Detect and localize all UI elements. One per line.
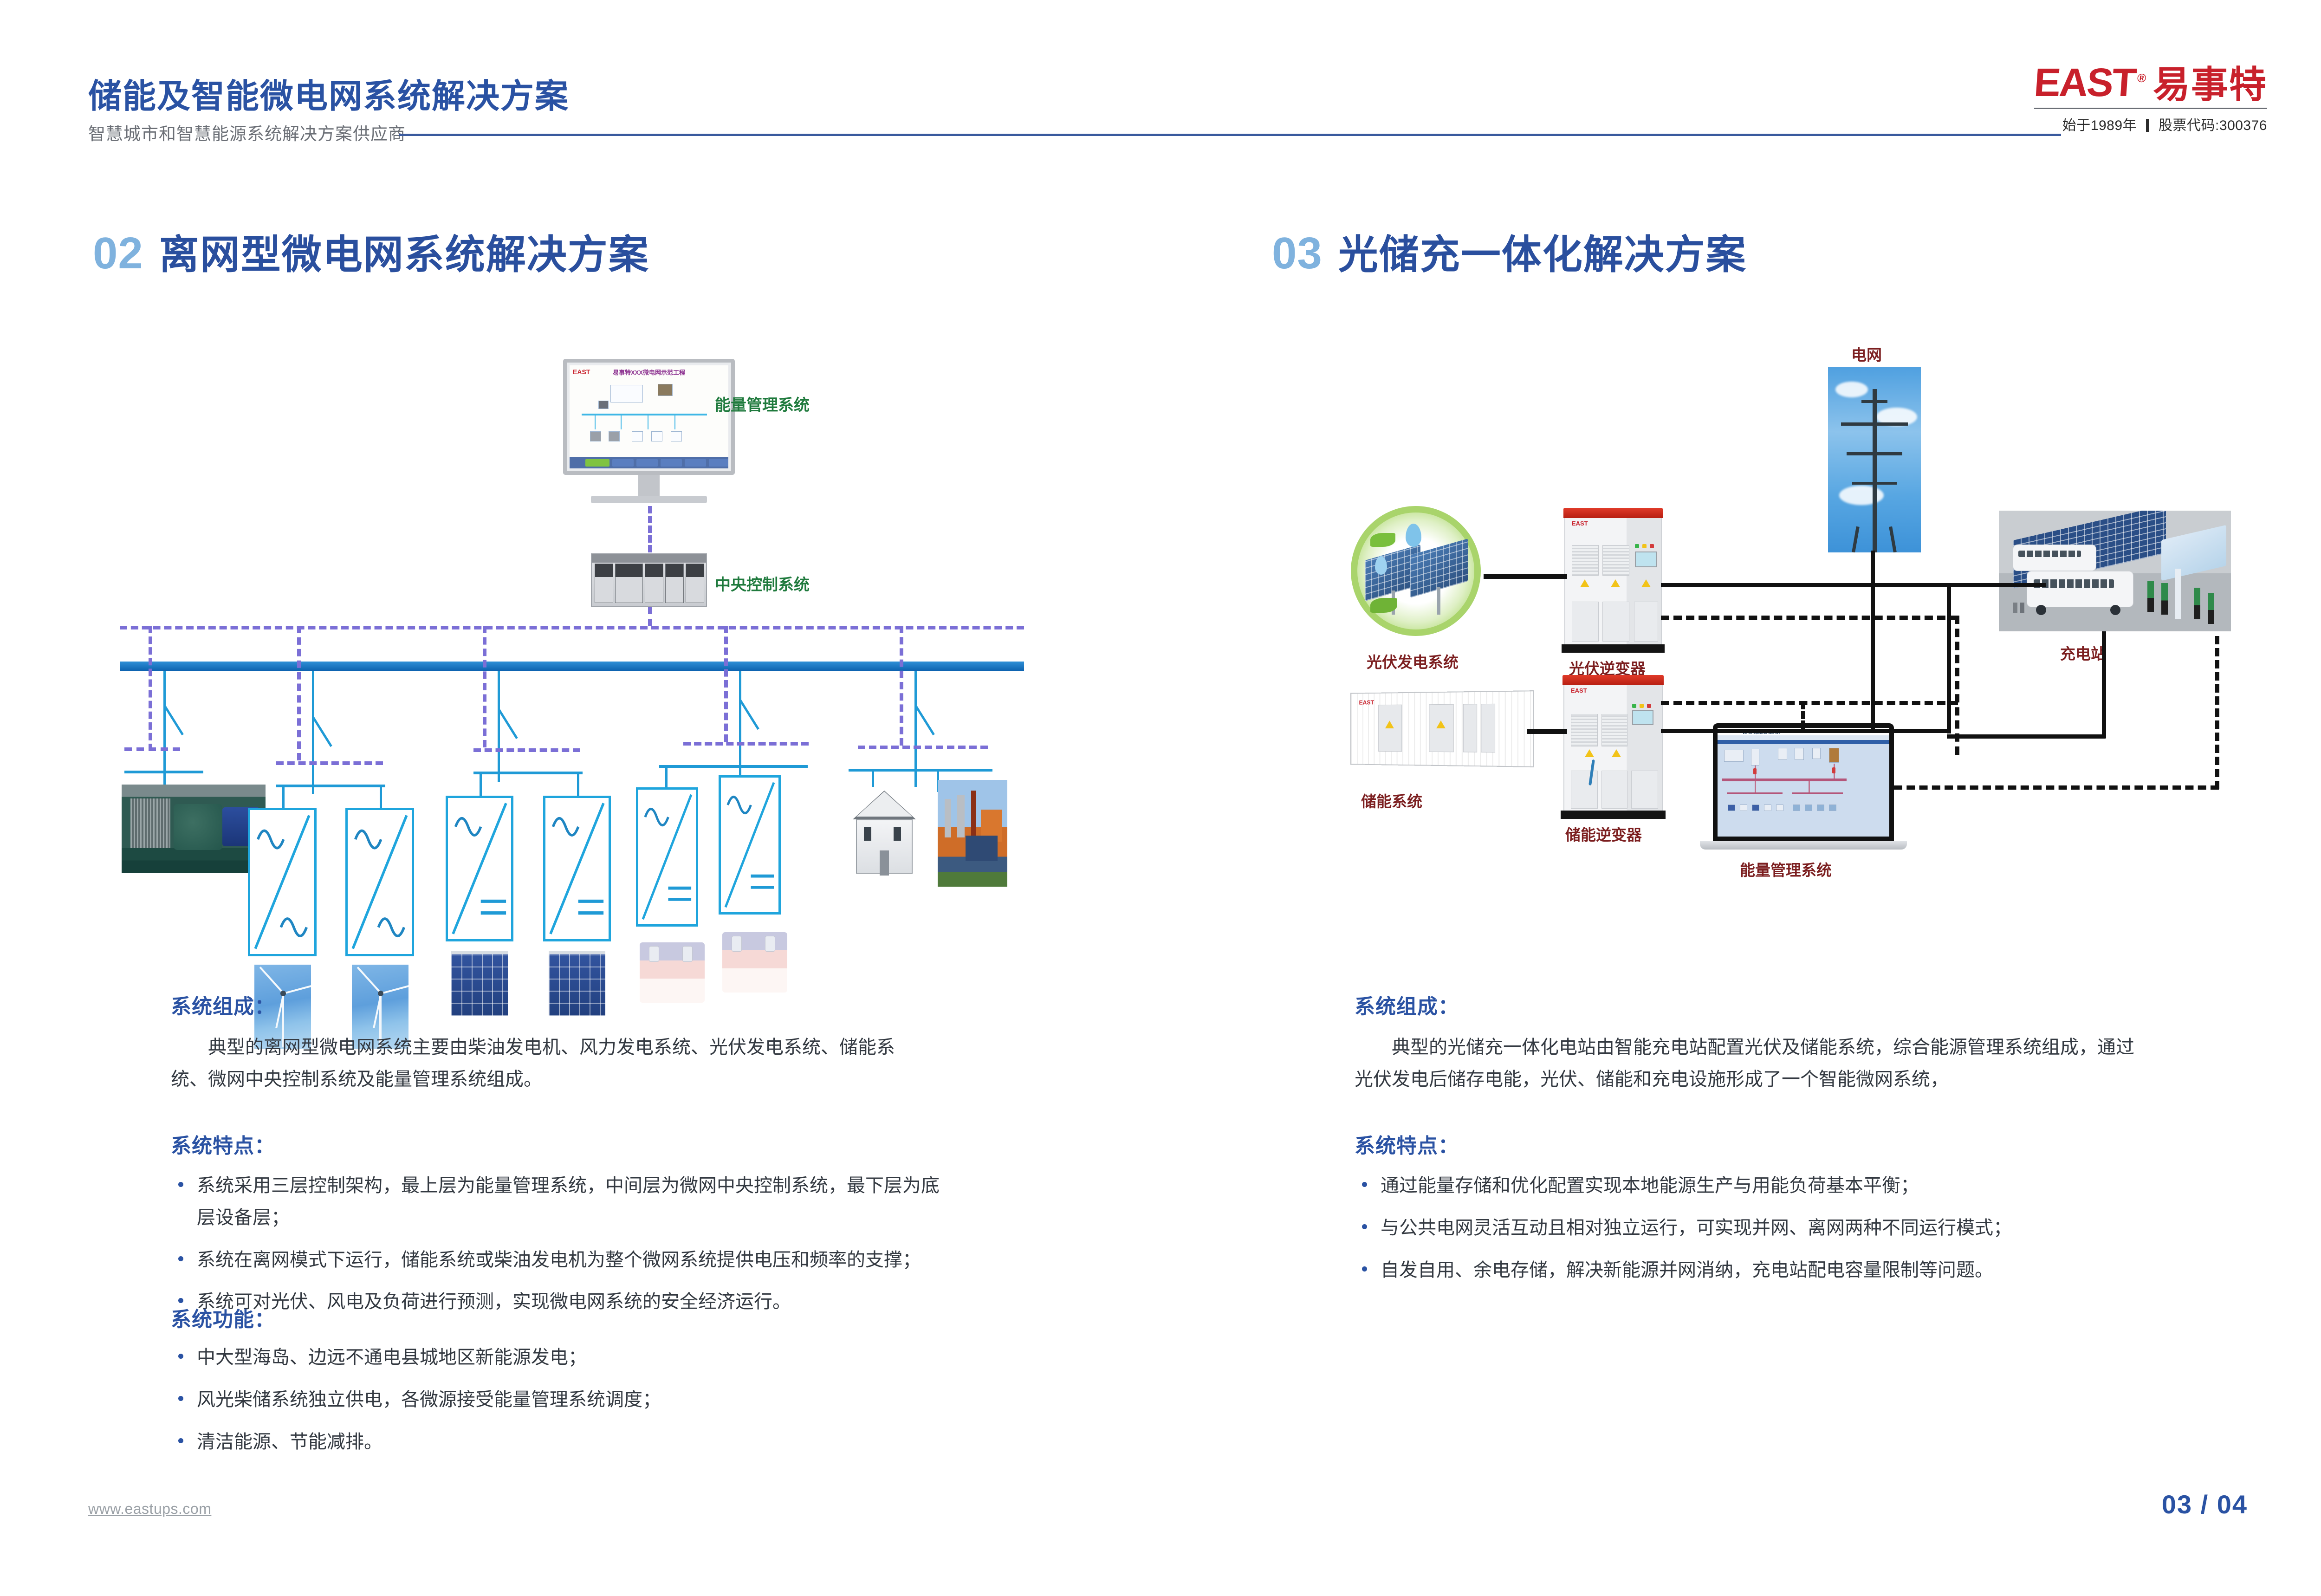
ems-screen-wire: [621, 415, 622, 429]
cabinet-plinth: [1562, 644, 1665, 653]
breaker-switch-5: [914, 705, 934, 735]
footer-website-link[interactable]: www.eastups.com: [88, 1500, 211, 1518]
list-item: 系统采用三层控制架构，最上层为能量管理系统，中间层为微网中央控制系统，最下层为底…: [171, 1170, 941, 1234]
footer-page-number: 03 / 04: [2162, 1489, 2248, 1519]
energy-storage-container-icon: EAST: [1350, 690, 1534, 767]
label-storage-inverter: 储能逆变器: [1565, 823, 1642, 845]
ems-toolbar-chip: [612, 459, 634, 467]
pylon-crossarm: [1852, 482, 1897, 485]
pv-panel-pole: [1437, 587, 1440, 615]
turbine-blade: [357, 967, 382, 994]
laptop-screen: EAST 微电网能源管理系统: [1713, 723, 1894, 841]
ems-laptop-icon: EAST 微电网能源管理系统: [1713, 723, 1894, 850]
battery-terminal: [649, 946, 659, 962]
sld-feeder-bus: [1727, 792, 1783, 794]
sld-breaker: [1832, 767, 1835, 773]
ems-app-canvas: [1718, 744, 1889, 837]
breaker-switch-4: [739, 700, 759, 730]
feeder-busbar-1: [124, 771, 203, 773]
generator-engine: [174, 804, 222, 850]
status-led-green: [1632, 704, 1636, 708]
ems-toolbar-chip: [661, 459, 682, 467]
canopy-wing: [2161, 525, 2226, 581]
sld-feeder-bus: [1792, 792, 1843, 794]
battery-icon-1: [640, 942, 705, 1003]
cabinet-brand-logo: EAST: [1571, 687, 1587, 694]
sld-node: [1751, 749, 1759, 766]
link-station-drop: [1947, 631, 1951, 733]
sld-load: [1817, 804, 1824, 811]
label-charging-station: 充电站: [2060, 642, 2106, 664]
sld-node: [1795, 748, 1804, 760]
right-features-list: 通过能量存储和优化配置实现本地能源生产与用能负荷基本平衡； 与公共电网灵活互动且…: [1355, 1170, 2172, 1296]
charging-pile: [2208, 593, 2214, 624]
ems-screen-wire: [595, 415, 596, 429]
label-grid: 电网: [1851, 343, 1882, 365]
pv-array-icon-1: [451, 951, 508, 1016]
link-bess-to-inverter: [1527, 729, 1567, 734]
ems-toolbar-chip: [685, 459, 706, 467]
cabinet-vent: [1571, 714, 1598, 746]
warning-icon: [1436, 720, 1446, 728]
bus-wheel: [2110, 605, 2120, 615]
house-roof-face: [856, 792, 912, 817]
comms-to-laptop: [1801, 701, 1805, 729]
dc-ac-inverter-bess-2: [719, 775, 781, 915]
link-station-feeder: [2102, 631, 2106, 738]
plc-module: [645, 564, 663, 603]
ems-screen-toolbar: [570, 457, 728, 468]
container-door: [1463, 704, 1477, 752]
list-item: 系统在离网模式下运行，储能系统或柴油发电机为整个微网系统提供电压和频率的支撑；: [171, 1244, 941, 1276]
feeder-comms-seg-1: [124, 747, 180, 751]
battery-terminal: [682, 946, 693, 962]
label-ccs: 中央控制系统: [715, 572, 810, 595]
status-led-amber: [1640, 704, 1644, 708]
branch-wire-3b: [577, 772, 579, 796]
sld-node: [1812, 748, 1821, 759]
pv-inverter-cabinet-icon: EAST: [1564, 515, 1662, 646]
status-led-red: [1647, 704, 1651, 708]
turbine-blade: [283, 983, 311, 994]
plc-module: [615, 564, 643, 603]
list-item: 中大型海岛、边远不通电县城地区新能源发电；: [171, 1342, 941, 1374]
status-led-green: [1635, 544, 1639, 548]
feeder-comms-4: [724, 626, 728, 742]
ems-toolbar-chip: [585, 459, 609, 467]
ems-screen-unit: [609, 431, 620, 441]
ac-main-busbar: [120, 662, 1024, 671]
pv-storage-charging-diagram: 电网 光伏发电系统 EAST 光伏逆变器: [1207, 0, 2321, 928]
breaker-switch-3: [498, 709, 518, 739]
battery-terminal: [765, 936, 775, 952]
sld-branch: [1809, 781, 1810, 792]
monitor-base: [591, 496, 707, 503]
diesel-generator-icon: [122, 785, 266, 873]
ems-screen-box: [610, 385, 643, 402]
left-composition-text: 典型的离网型微电网系统主要由柴油发电机、风力发电系统、光伏发电系统、储能系统、微…: [171, 1032, 918, 1096]
list-item: 系统可对光伏、风电及负荷进行预测，实现微电网系统的安全经济运行。: [171, 1286, 941, 1318]
industrial-load-icon: [938, 780, 1007, 887]
sld-breaker: [1753, 768, 1757, 774]
pylon-crossarm: [1861, 400, 1887, 403]
link-station-bottom: [1947, 734, 2106, 739]
water-drop-icon: [1375, 556, 1387, 575]
status-led-red: [1650, 544, 1654, 548]
warning-icon: [1611, 579, 1620, 587]
ems-to-ccs-link: [648, 506, 652, 552]
feeder-busbar-4: [659, 765, 808, 768]
breaker-switch-1: [163, 705, 183, 735]
cabinet-door: [1572, 602, 1599, 642]
communication-bus: [120, 626, 1024, 629]
sld-node: [1829, 748, 1839, 763]
pylon-crossarm: [1847, 452, 1902, 455]
factory-stack: [945, 799, 951, 837]
feeder-comms-3: [483, 626, 486, 747]
battery-terminal: [732, 936, 742, 952]
leaf-icon: [1370, 533, 1395, 547]
branch-wire-2a: [282, 785, 285, 808]
label-ems-right: 能量管理系统: [1740, 858, 1832, 880]
ems-screen-unit: [651, 431, 662, 441]
ems-screen-plc: [598, 401, 609, 409]
cabinet-door: [1571, 771, 1598, 809]
feeder-comms-seg-4: [683, 742, 809, 746]
sld-load: [1793, 804, 1800, 811]
warning-icon: [1585, 749, 1594, 757]
sld-node: [1724, 750, 1744, 762]
list-item: 风光柴储系统独立供电，各微源接受能量管理系统调度；: [171, 1384, 941, 1416]
ac-ac-converter-1: [248, 808, 317, 956]
right-composition-text: 典型的光储充一体化电站由智能充电站配置光伏及储能系统，综合能源管理系统组成，通过…: [1355, 1032, 2144, 1096]
ems-screen-wire: [648, 415, 648, 429]
feeder-comms-2: [297, 626, 301, 760]
feeder-comms-1: [149, 626, 152, 751]
pylon-crossarm: [1841, 422, 1908, 426]
feeder-comms-seg-3: [473, 748, 580, 752]
cabinet-door: [1631, 771, 1658, 809]
pv-array-icon-2: [549, 951, 605, 1016]
sld-load: [1740, 804, 1747, 811]
ems-screen-photo: [658, 384, 673, 396]
cabinet-door: [1601, 771, 1627, 809]
breaker-switch-2: [312, 717, 332, 747]
pedestrian-figure: [2013, 603, 2017, 613]
bus-vehicle-front: [2027, 571, 2133, 607]
turbine-hub: [280, 991, 286, 996]
ems-toolbar-chip: [709, 459, 728, 467]
charging-station-icon: [1999, 511, 2231, 631]
branch-wire-3a: [480, 772, 482, 796]
feeder-wire-4: [739, 671, 741, 787]
ems-screen-title: 易事特XXX微电网示范工程: [570, 368, 728, 376]
cabinet-door: [1602, 602, 1629, 642]
plc-top-rail: [592, 554, 706, 563]
plc-module: [595, 564, 613, 603]
branch-wire-4a: [665, 765, 668, 787]
slide-page: 储能及智能微电网系统解决方案 智慧城市和智慧能源系统解决方案供应商 EAST® …: [0, 0, 2321, 1596]
ccs-to-bus-link: [648, 607, 652, 626]
sld-load: [1764, 804, 1771, 811]
link-pv-to-inverter: [1484, 574, 1567, 579]
comms-pvinv-to-node: [1661, 616, 1958, 620]
turbine-blade: [381, 983, 408, 994]
power-grid-icon: [1828, 367, 1921, 552]
ems-screen-unit: [632, 431, 643, 441]
feeder-busbar-5: [849, 769, 992, 772]
factory-building-blue: [966, 836, 998, 861]
pylon-mast: [1873, 389, 1877, 552]
feeder-wire-1: [163, 671, 166, 792]
central-control-plc-icon: [591, 553, 707, 607]
sld-load: [1805, 804, 1812, 811]
left-functions-list: 中大型海岛、边远不通电县城地区新能源发电； 风光柴储系统独立供电，各微源接受能量…: [171, 1342, 941, 1468]
comms-station-vertical: [2215, 636, 2219, 789]
status-led-amber: [1642, 544, 1647, 548]
turbine-hub: [378, 991, 383, 996]
warning-icon: [1612, 749, 1621, 757]
feeder-comms-seg-2: [276, 761, 383, 765]
cabinet-brand-logo: EAST: [1572, 520, 1588, 527]
ems-screen-unit: [590, 431, 601, 441]
bus-vehicle-rear: [2013, 545, 2096, 571]
plc-module: [665, 564, 684, 603]
comms-vertical-center: [1955, 616, 1959, 755]
label-pv-system: 光伏发电系统: [1367, 650, 1459, 672]
sld-load: [1829, 804, 1836, 811]
feeder-wire-2: [312, 671, 314, 794]
charging-pile: [2161, 583, 2168, 615]
pedestrian-figure: [2020, 603, 2024, 613]
cabinet-vent: [1602, 545, 1629, 576]
charging-pile: [2147, 581, 2154, 612]
charging-pile: [2194, 588, 2200, 619]
sld-load: [1776, 804, 1783, 811]
battery-icon-2: [722, 932, 787, 993]
factory-chimney: [971, 791, 976, 837]
house-window: [894, 827, 901, 841]
left-features-list: 系统采用三层控制架构，最上层为能量管理系统，中间层为微网中央控制系统，最下层为底…: [171, 1170, 941, 1328]
ems-app-tabbar[interactable]: [1718, 740, 1889, 744]
cabinet-top-cap: [1562, 675, 1664, 685]
left-composition-title: 系统组成：: [171, 990, 275, 1019]
offgrid-microgrid-diagram: EAST 易事特XXX微电网示范工程: [0, 0, 1160, 882]
cloud-shape: [1835, 382, 1868, 397]
house-window: [864, 827, 871, 841]
canopy-column: [2175, 569, 2181, 619]
container-door: [1481, 704, 1495, 753]
plc-module: [686, 564, 704, 603]
cabinet-vent: [1601, 714, 1627, 746]
residential-load-icon: [845, 787, 924, 877]
pylon-leg: [1852, 526, 1860, 552]
ems-monitor-screen: EAST 易事特XXX微电网示范工程: [570, 365, 728, 468]
list-item: 清洁能源、节能减排。: [171, 1426, 941, 1458]
dc-ac-inverter-pv-1: [446, 796, 513, 941]
list-item: 与公共电网灵活互动且相对独立运行，可实现并网、离网两种不同运行模式；: [1355, 1212, 2172, 1244]
right-composition-title: 系统组成：: [1355, 990, 1459, 1019]
warning-icon: [1580, 579, 1589, 587]
hmi-display[interactable]: [1632, 710, 1653, 725]
branch-wire-2b: [380, 785, 382, 808]
ems-screen-unit: [671, 431, 682, 441]
ems-monitor-icon: EAST 易事特XXX微电网示范工程: [563, 359, 735, 475]
storage-inverter-cabinet-icon: EAST: [1563, 682, 1663, 812]
container-brand-logo: EAST: [1359, 699, 1374, 706]
dc-ac-inverter-pv-2: [543, 796, 611, 941]
leaf-icon: [1370, 598, 1397, 613]
cabinet-plinth: [1561, 811, 1666, 819]
comms-bessinv-to-node: [1661, 701, 1958, 705]
feeder-wire-3: [498, 671, 500, 782]
bus-wheel: [2036, 605, 2046, 615]
sld-busbar: [1722, 779, 1847, 781]
list-item: 通过能量存储和优化配置实现本地能源生产与用能负荷基本平衡；: [1355, 1170, 2172, 1202]
ems-toolbar-chip: [636, 459, 658, 467]
feeder-comms-5: [900, 626, 903, 746]
bus-windows: [2018, 551, 2081, 557]
left-functions-title: 系统功能：: [171, 1303, 275, 1332]
hmi-display[interactable]: [1635, 551, 1657, 567]
comms-laptop-to-station: [1894, 785, 2219, 790]
ac-ac-converter-2: [345, 808, 414, 956]
pylon-leg: [1889, 526, 1897, 552]
right-features-title: 系统特点：: [1355, 1129, 1459, 1159]
left-features-title: 系统特点：: [171, 1129, 275, 1159]
sld-load: [1728, 804, 1735, 811]
generator-radiator: [130, 798, 171, 848]
sld-load: [1752, 804, 1759, 811]
ems-screen-wire: [674, 415, 675, 429]
laptop-screen-content: EAST 微电网能源管理系统: [1718, 728, 1889, 837]
dc-ac-inverter-bess-1: [636, 787, 698, 927]
feeder-busbar-3: [473, 772, 583, 774]
warning-icon: [1641, 579, 1651, 587]
factory-stack: [957, 795, 965, 837]
cloud-shape: [1839, 486, 1884, 505]
link-pvinv-to-grid-bus: [1661, 583, 2046, 587]
ems-app-menubar[interactable]: [1718, 735, 1889, 740]
sld-branch: [1755, 781, 1756, 792]
label-storage-system: 储能系统: [1361, 789, 1422, 811]
laptop-base: [1700, 841, 1907, 850]
cabinet-vent: [1572, 545, 1599, 576]
sld-node: [1778, 748, 1787, 760]
link-bessinv-to-grid-bus: [1661, 729, 1949, 733]
cabinet-top-cap: [1563, 508, 1663, 518]
ems-screen-bus: [582, 414, 707, 415]
warning-icon: [1385, 720, 1394, 728]
house-door: [880, 850, 889, 876]
feeder-comms-seg-5: [858, 746, 988, 749]
feeder-busbar-2: [276, 785, 385, 787]
cabinet-door: [1634, 602, 1658, 642]
list-item: 自发自用、余电存储，解决新能源并网消纳，充电站配电容量限制等问题。: [1355, 1254, 2172, 1286]
label-ems: 能量管理系统: [715, 392, 810, 415]
